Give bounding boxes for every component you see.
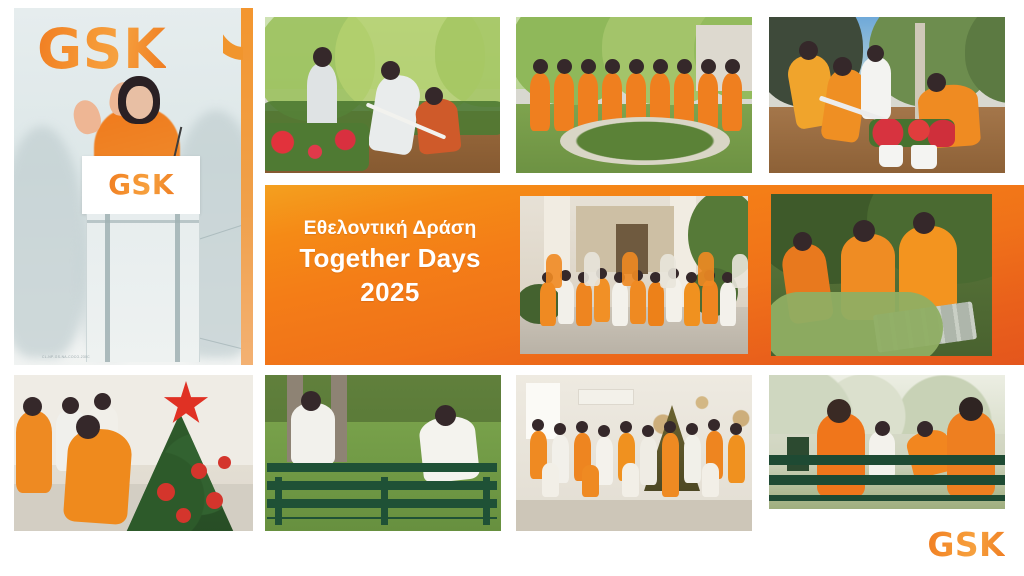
gsk-logo-podium: GSK	[108, 170, 174, 200]
person	[662, 465, 679, 497]
person	[542, 463, 559, 497]
podium-leg	[105, 214, 110, 362]
person	[732, 254, 748, 288]
person-head	[686, 423, 698, 435]
campaign-subtitle-greek: Εθελοντική Δράση	[265, 215, 515, 241]
person	[582, 465, 599, 497]
person	[540, 282, 556, 326]
collage-poster: GSK GSK CL-NP-GS-NA-COCO-230C	[0, 0, 1024, 576]
bench-leg	[381, 477, 388, 525]
person-head	[653, 59, 668, 74]
person-head	[853, 220, 875, 242]
person-head	[425, 87, 443, 105]
volunteer-crowd	[530, 419, 752, 497]
person	[530, 73, 550, 131]
person	[554, 73, 574, 131]
person	[584, 252, 600, 286]
person	[630, 280, 646, 324]
podium-leg	[175, 214, 180, 362]
ornament	[206, 492, 223, 509]
person	[291, 403, 335, 465]
person	[684, 282, 700, 326]
person	[722, 73, 742, 131]
park-bench	[769, 455, 1005, 501]
gsk-logo-footer: GSK	[927, 528, 1005, 562]
person-head	[620, 421, 632, 433]
person-head	[686, 272, 697, 283]
flower-pot	[911, 145, 937, 169]
image-credit-text: CL-NP-GS-NA-COCO-230C	[42, 355, 90, 359]
person-head	[927, 73, 946, 92]
person	[612, 282, 628, 326]
person	[546, 254, 562, 288]
person-head	[827, 399, 851, 423]
bench-leg	[483, 477, 490, 525]
person-head	[598, 425, 610, 437]
flower-cluster	[869, 119, 955, 147]
gsk-logo-hero: GSK	[37, 20, 166, 78]
person-head	[629, 59, 644, 74]
person-head	[917, 421, 933, 437]
person	[702, 463, 719, 497]
photo-big-group-portico	[520, 196, 748, 354]
volunteer-crowd	[540, 248, 748, 334]
person-head	[867, 45, 884, 62]
person	[16, 411, 52, 493]
person-head	[725, 59, 740, 74]
person-head	[677, 59, 692, 74]
photo-group-flowerbed	[516, 17, 752, 173]
person	[63, 427, 133, 525]
podium-body	[86, 214, 200, 362]
person-head	[532, 419, 544, 431]
person	[684, 435, 701, 483]
person	[622, 252, 638, 286]
person-head	[875, 421, 890, 436]
person-head	[833, 57, 852, 76]
campaign-title-block: Εθελοντική Δράση Together Days 2025	[265, 215, 515, 309]
person	[576, 282, 592, 326]
person-head	[76, 415, 100, 439]
person-head	[793, 232, 812, 251]
person-head	[576, 421, 588, 433]
person-head	[913, 212, 935, 234]
person-head	[62, 397, 79, 414]
person-head	[708, 419, 720, 431]
campaign-title: Together Days	[265, 241, 515, 275]
person-head	[94, 393, 111, 410]
photo-indoor-group	[516, 375, 752, 531]
air-conditioner	[578, 389, 634, 405]
flower-pot	[879, 145, 903, 167]
person-head	[557, 59, 572, 74]
person-head	[959, 397, 983, 421]
podium-sign: GSK	[82, 156, 200, 214]
photo-digging-soil	[769, 17, 1005, 173]
ornament	[191, 463, 207, 479]
photo-painting-bench	[265, 375, 501, 531]
ornament	[176, 508, 191, 523]
cut-branches	[771, 292, 943, 356]
speaker-face	[126, 86, 153, 119]
person-head	[701, 59, 716, 74]
person	[702, 280, 718, 324]
person-head	[301, 391, 321, 411]
ornament	[218, 456, 231, 469]
person-head	[381, 61, 400, 80]
campaign-year: 2025	[265, 275, 515, 309]
person	[720, 282, 736, 326]
photo-christmas-tree	[14, 375, 253, 531]
flower-bed	[265, 123, 369, 171]
swoosh-hook	[223, 8, 243, 60]
floor	[516, 500, 752, 531]
person-head	[730, 423, 742, 435]
person	[728, 435, 745, 483]
person-head	[435, 405, 456, 426]
person-head	[313, 47, 332, 67]
ornament	[157, 483, 175, 501]
person	[861, 57, 891, 119]
person	[640, 437, 657, 485]
person-head	[23, 397, 42, 416]
photo-pruning-shrubs	[771, 194, 992, 356]
person	[698, 252, 714, 286]
person-head	[581, 59, 596, 74]
person	[660, 254, 676, 288]
podium-rail	[87, 220, 199, 223]
bench-leg	[275, 477, 282, 525]
person-head	[533, 59, 548, 74]
person-head	[605, 59, 620, 74]
person-head	[642, 425, 654, 437]
person-head	[799, 41, 818, 60]
person-head	[664, 421, 676, 433]
hero-speaker-panel: GSK GSK CL-NP-GS-NA-COCO-230C	[14, 8, 253, 365]
person	[622, 463, 639, 497]
circular-flower-bed	[560, 117, 730, 165]
photo-cleaning-bench	[769, 375, 1005, 509]
photo-planting-flowers	[265, 17, 500, 173]
person-head	[554, 423, 566, 435]
person	[648, 282, 664, 326]
